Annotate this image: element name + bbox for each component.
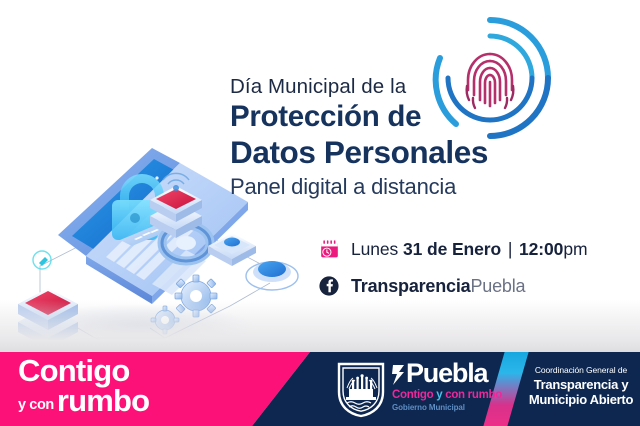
poster-canvas: Día Municipal de la Protección de Datos …	[0, 0, 640, 426]
event-date-text: Lunes 31 de Enero | 12:00pm	[351, 239, 587, 260]
facebook-icon[interactable]	[318, 275, 340, 297]
coordination-line-3: Municipio Abierto	[522, 392, 640, 408]
slogan-line-1: Contigo	[18, 357, 248, 386]
facebook-handle[interactable]: TransparenciaPuebla	[351, 276, 525, 297]
puebla-wordmark: Puebla	[406, 360, 487, 387]
slogan-contigo-y-con-rumbo: Contigo y con rumbo	[18, 357, 248, 415]
event-date-row: Lunes 31 de Enero | 12:00pm	[318, 234, 587, 264]
puebla-tagline: Contigo y con rumbo	[392, 389, 502, 401]
puebla-government-logo: Puebla Contigo y con rumbo Gobierno Muni…	[392, 360, 502, 412]
event-social-row[interactable]: TransparenciaPuebla	[318, 271, 587, 301]
slogan-line-2: rumbo	[57, 387, 149, 416]
slogan-small-text: y con	[18, 399, 54, 415]
headline-block: Día Municipal de la Protección de Datos …	[230, 76, 630, 199]
calendar-clock-icon	[318, 238, 340, 260]
coordination-block: Coordinación General de Transparencia y …	[522, 365, 640, 408]
gradient-divider	[0, 300, 640, 352]
coordination-line-2: Transparencia y	[522, 377, 640, 393]
headline-line-2: Datos Personales	[230, 135, 630, 170]
puebla-logo-mark	[392, 364, 405, 386]
headline-subtitle: Panel digital a distancia	[230, 174, 630, 199]
headline-kicker: Día Municipal de la	[230, 76, 630, 99]
headline-line-1: Protección de	[230, 100, 630, 133]
coordination-line-1: Coordinación General de	[522, 365, 640, 376]
puebla-subline: Gobierno Municipal	[392, 403, 502, 412]
event-info-block: Lunes 31 de Enero | 12:00pm Transparenci…	[318, 234, 587, 308]
puebla-coat-of-arms	[333, 360, 389, 418]
